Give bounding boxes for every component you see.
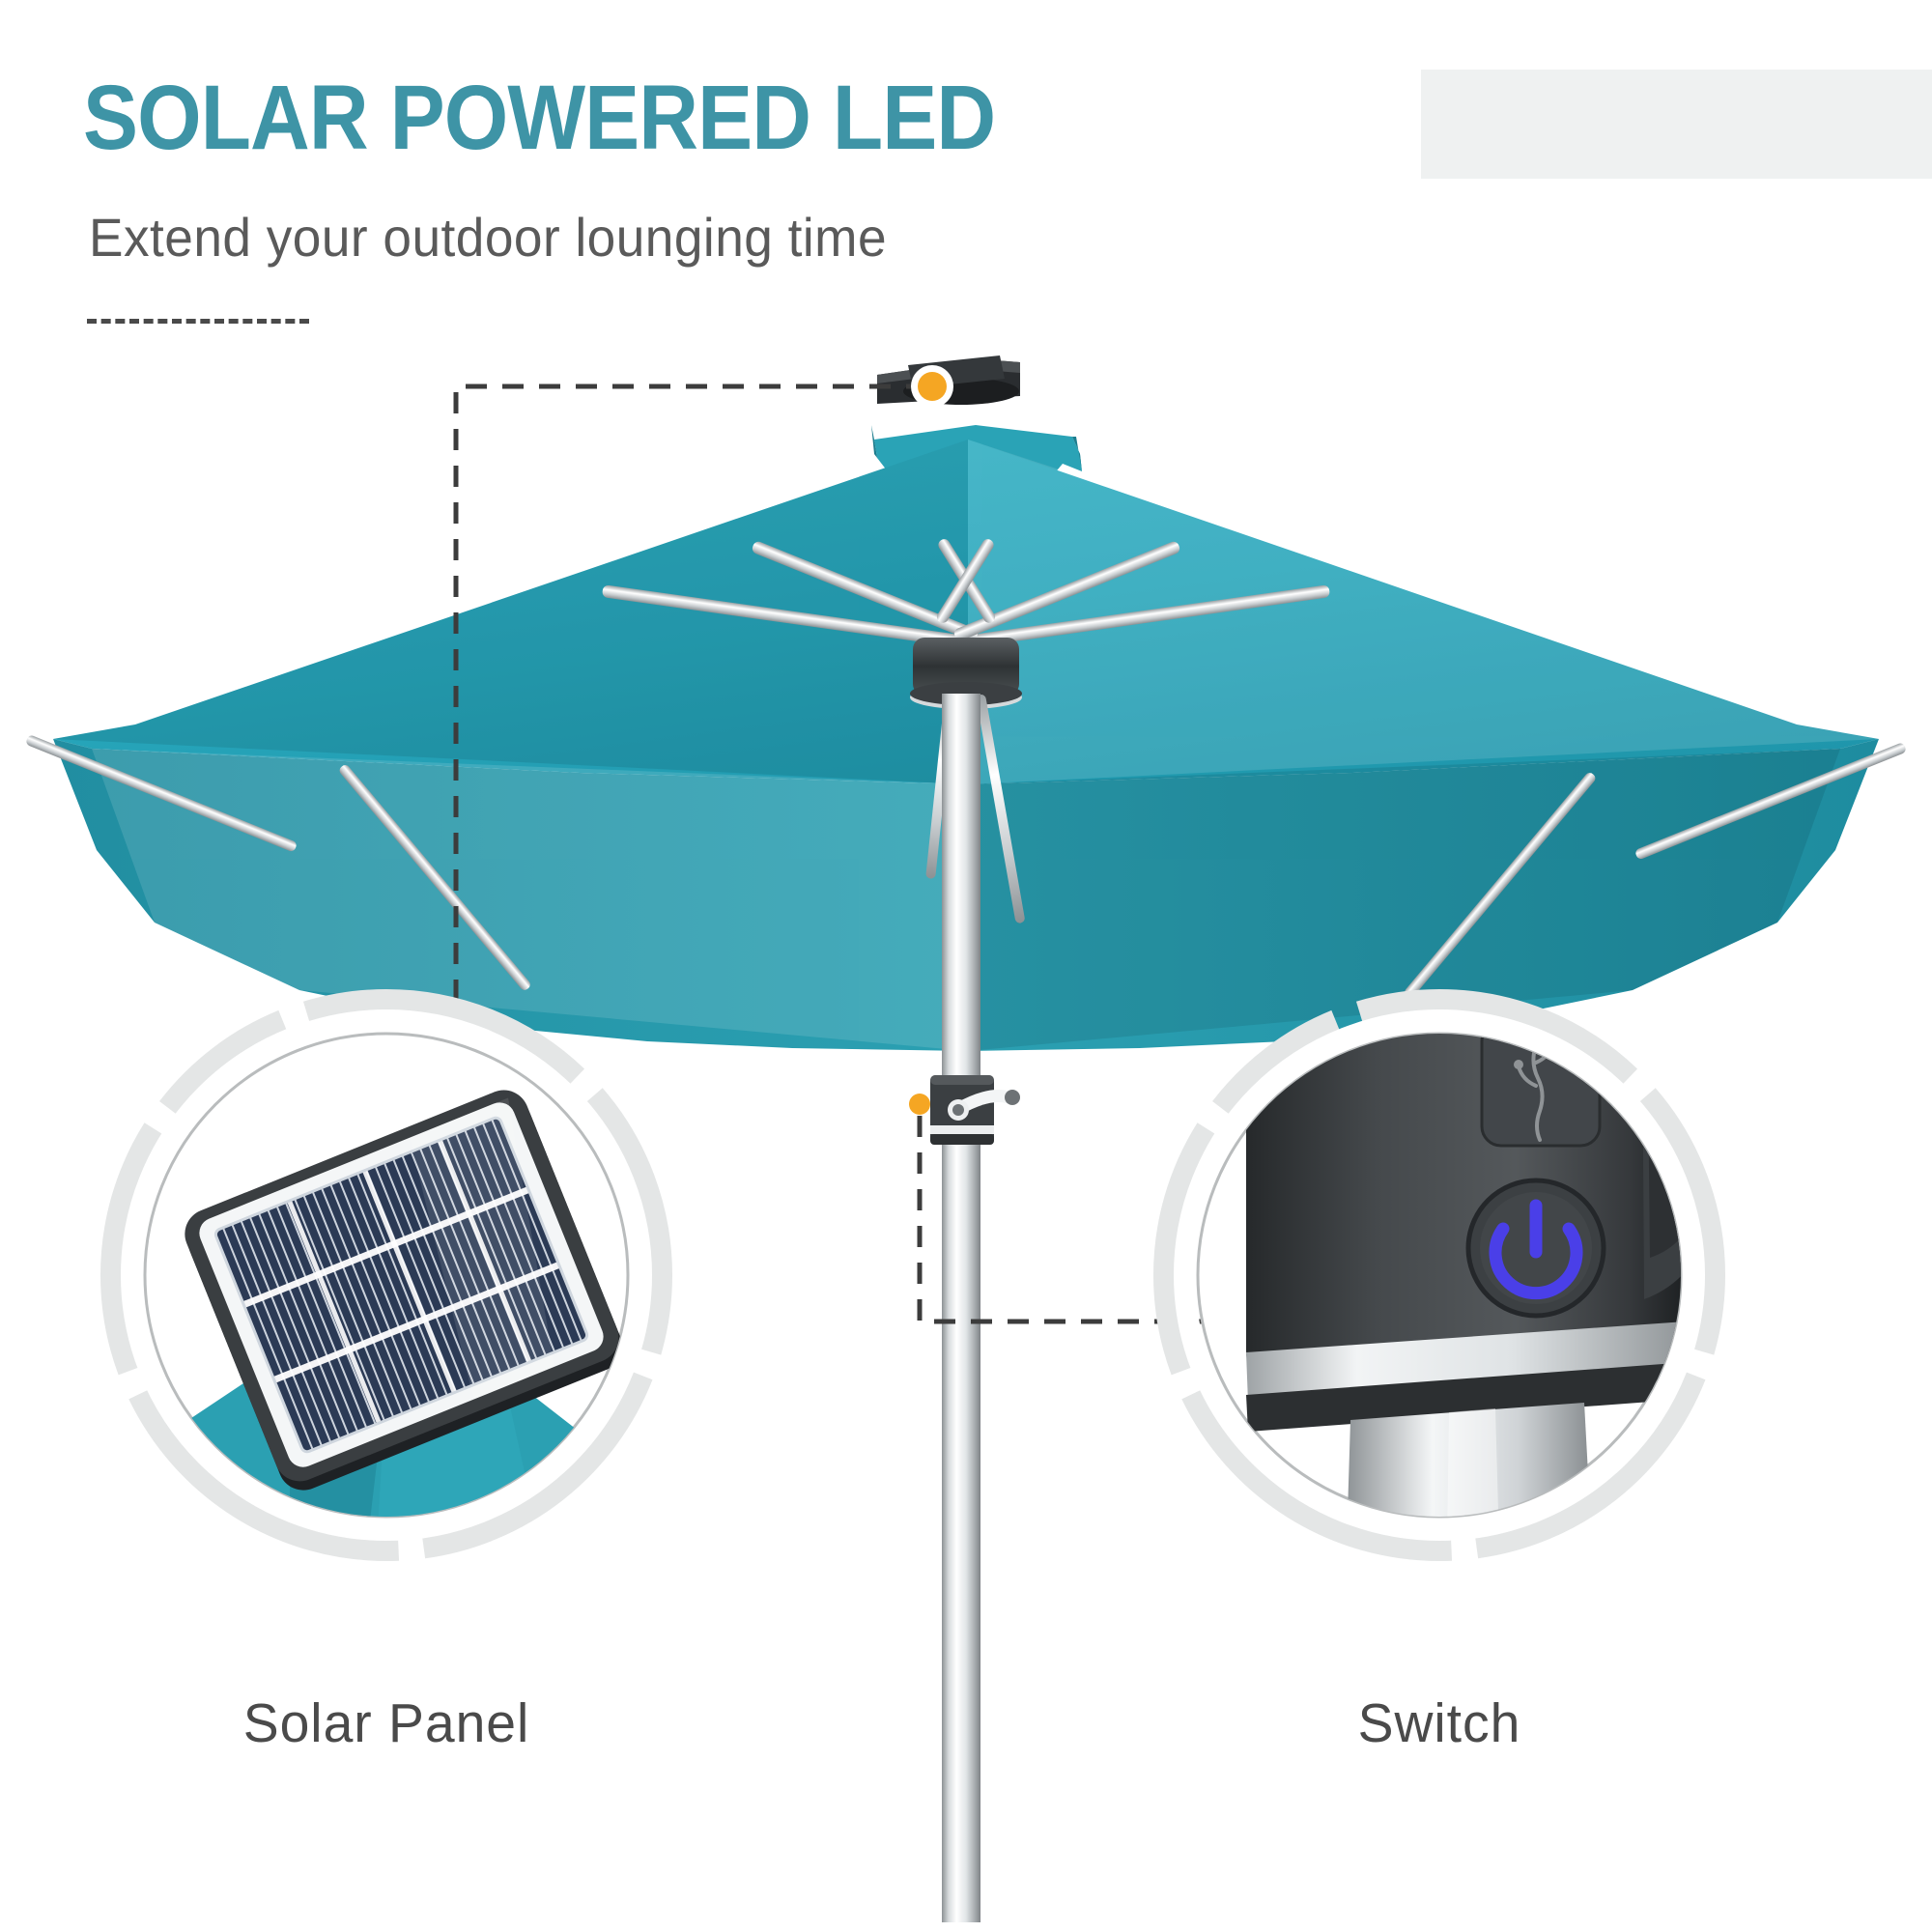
marker-halo-solar xyxy=(911,365,953,408)
canopy-facets xyxy=(53,440,1879,1051)
canopy-vent-flap xyxy=(874,425,1082,483)
canopy-ribs xyxy=(25,734,1907,1000)
fabric-under-panel xyxy=(145,1352,676,1546)
circle-frame-switch xyxy=(1198,1034,1681,1517)
crank-handle xyxy=(930,1075,1020,1145)
umbrella-hub xyxy=(910,638,1022,709)
canopy-upper xyxy=(53,440,1879,784)
umbrella-graphic xyxy=(25,355,1907,1922)
pole-stem-in-circle xyxy=(1347,1403,1592,1546)
product-illustration xyxy=(0,0,1932,1932)
top-solar-module xyxy=(877,355,1020,405)
title-divider xyxy=(87,319,309,324)
usb-port-cover xyxy=(1482,1022,1600,1146)
leader-solar-panel xyxy=(456,386,927,1034)
led-housing-body xyxy=(1246,1010,1681,1389)
umbrella-pole xyxy=(942,638,980,1922)
housing-side-lobe xyxy=(1633,1010,1716,1299)
orange-dot-solar-icon xyxy=(918,372,947,401)
callout-markers xyxy=(909,365,953,1115)
support-struts xyxy=(925,694,1025,923)
power-icon xyxy=(1495,1206,1577,1293)
page-subtitle: Extend your outdoor lounging time xyxy=(89,208,887,268)
orange-dot-switch-icon xyxy=(909,1094,930,1115)
circle-frame-solar xyxy=(145,1034,628,1517)
solar-panel-module xyxy=(178,1083,630,1498)
metal-collar xyxy=(1246,1321,1689,1403)
poster-canvas: SOLAR POWERED LED Extend your outdoor lo… xyxy=(0,0,1932,1932)
callout-circle-switch xyxy=(1166,1002,1716,1548)
callout-leaders xyxy=(456,386,1203,1321)
usb-icon xyxy=(1516,1043,1553,1140)
canopy-lower xyxy=(53,739,1879,1051)
power-button xyxy=(1468,1180,1604,1316)
callout-circle-solar-panel xyxy=(113,1002,676,1548)
leader-switch xyxy=(920,1116,1203,1321)
callout-label-solar-panel: Solar Panel xyxy=(161,1692,611,1754)
umbrella-spokes xyxy=(602,537,1330,648)
umbrella-pole-lower xyxy=(942,694,980,1922)
callout-label-switch: Switch xyxy=(1214,1692,1664,1754)
decorative-ring-switch xyxy=(1166,1002,1713,1548)
page-title: SOLAR POWERED LED xyxy=(83,70,995,166)
decorative-ring-solar xyxy=(113,1002,660,1548)
header-accent-block xyxy=(1421,70,1932,179)
solar-cell-grid-icon xyxy=(214,1116,589,1453)
